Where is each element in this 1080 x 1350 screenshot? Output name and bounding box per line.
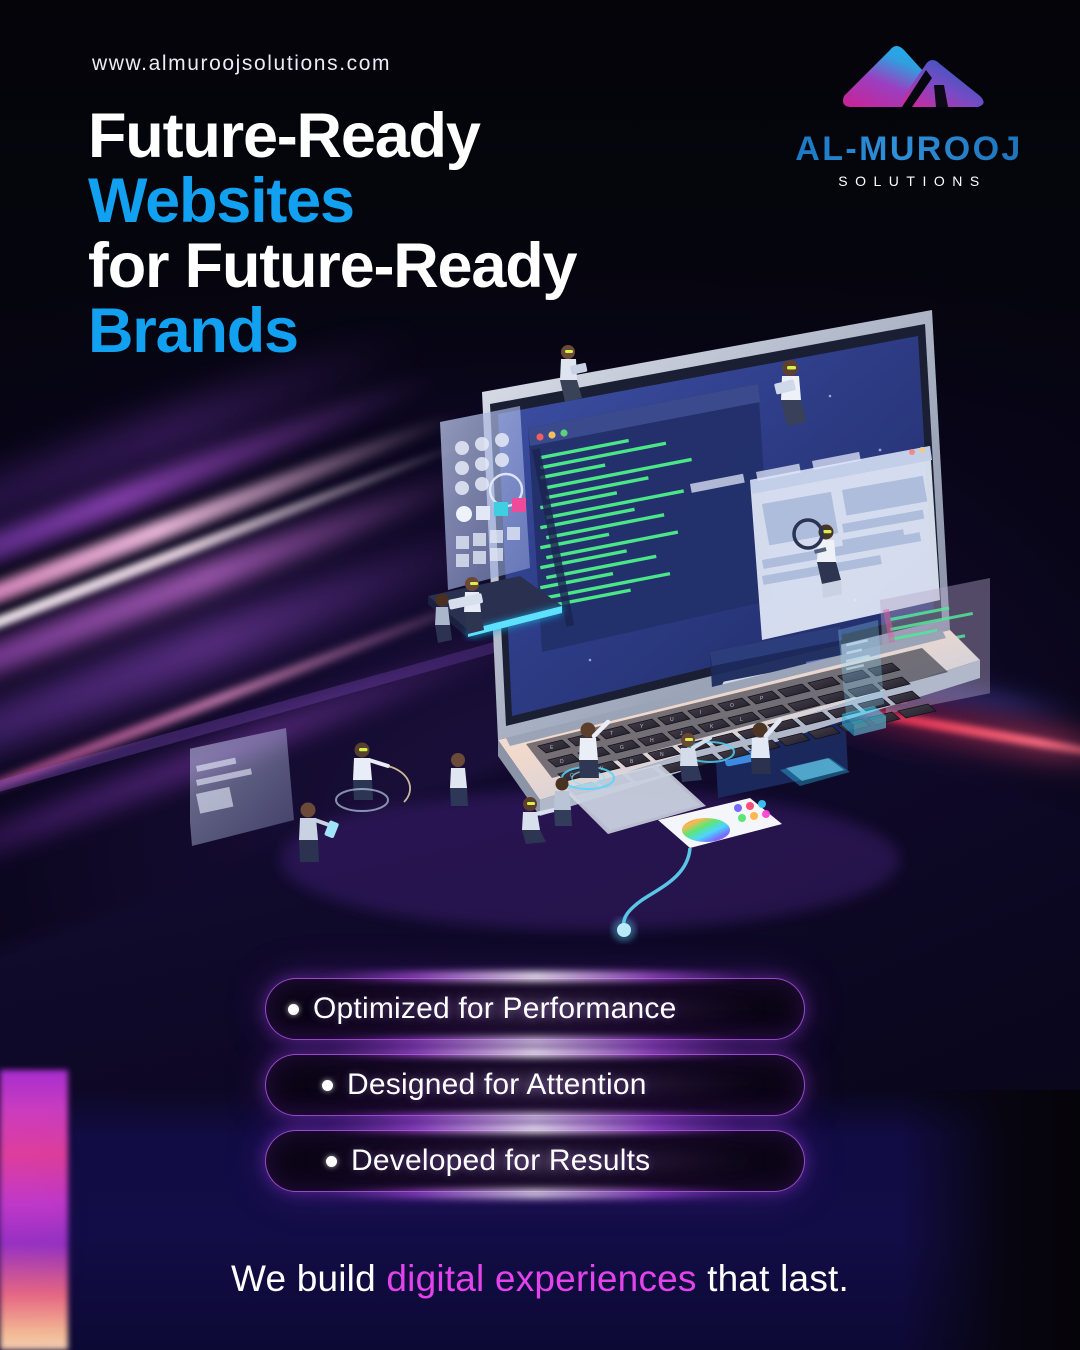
page-title: Future-Ready Websites for Future-Ready B… [88,104,576,364]
svg-text:I: I [700,710,701,716]
bottom-left-color-strip [0,1070,68,1350]
isometric-laptop-illustration: ERT YUI OP DFG HJK L CVB NM [190,300,990,960]
bullet-dot-icon [322,1080,333,1091]
pill-glow-top [320,972,750,981]
bullet-dot-icon [288,1004,299,1015]
svg-text:D: D [560,759,564,765]
pill-glow-top [320,1048,750,1057]
feature-pill-designed[interactable]: Designed for Attention [265,1054,805,1116]
svg-text:H: H [650,738,654,744]
feature-pill-optimized[interactable]: Optimized for Performance [265,978,805,1040]
mountain-m-logo-icon [814,30,1004,126]
svg-text:N: N [660,752,664,758]
logo-name: AL-MUROOJ [774,132,1044,166]
logo-subtitle: SOLUTIONS [774,173,1044,189]
bottom-panel-right-shade [900,1090,1080,1350]
pill-glow-bottom [320,1113,750,1122]
pill-glow-bottom [320,1037,750,1046]
pill-glow-bottom [320,1189,750,1198]
website-url: www.almuroojsolutions.com [92,52,391,76]
tagline-prefix: We build [231,1258,386,1299]
feature-pill-developed[interactable]: Developed for Results [265,1130,805,1192]
svg-text:L: L [740,717,743,723]
pill-glow-top [320,1124,750,1133]
brand-logo: AL-MUROOJ SOLUTIONS [774,30,1044,189]
svg-text:T: T [610,731,613,737]
svg-text:O: O [730,703,734,709]
floating-ui-card-left [190,728,294,846]
social-media-poster: ERT YUI OP DFG HJK L CVB NM [0,0,1080,1350]
data-cube-hologram [838,620,886,736]
tagline-suffix: that last. [697,1258,849,1299]
headline-line-3: for Future-Ready [88,234,576,299]
feature-pill-list: Optimized for Performance Designed for A… [265,978,805,1206]
feature-label: Designed for Attention [347,1068,647,1102]
headline-line-4: Brands [88,299,576,364]
color-palette-panel [440,406,530,590]
headline-line-1: Future-Ready [88,104,576,169]
headline-line-2: Websites [88,169,576,234]
tagline-highlight: digital experiences [386,1258,696,1299]
bullet-dot-icon [326,1156,337,1167]
feature-label: Optimized for Performance [313,992,676,1026]
svg-text:U: U [670,717,674,723]
feature-label: Developed for Results [351,1144,650,1178]
tagline: We build digital experiences that last. [0,1258,1080,1300]
svg-text:G: G [620,745,624,751]
